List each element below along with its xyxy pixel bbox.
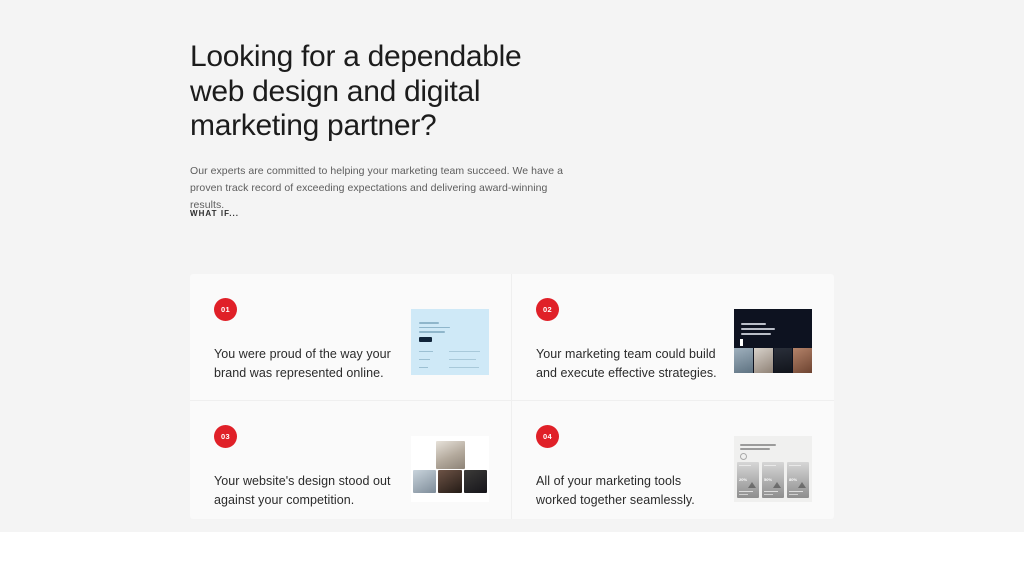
mock-text-line (419, 322, 439, 324)
mock-text-line (419, 327, 450, 329)
benefit-card-01[interactable]: 01 You were proud of the way your brand … (190, 274, 512, 401)
mock-text-line (739, 491, 753, 492)
mock-photo (774, 348, 793, 373)
mock-stat-value: 80% (789, 477, 797, 482)
mock-row-value (449, 367, 479, 368)
benefit-card-03-content: 03 Your website's design stood out again… (214, 423, 399, 509)
benefit-card-02-content: 02 Your marketing team could build and e… (536, 296, 721, 382)
mock-mountain-icon (773, 482, 781, 488)
benefit-text-04: All of your marketing tools worked toget… (536, 472, 721, 509)
thumbnail-light-blue-landing-page (411, 309, 489, 375)
mock-stat-card: 80% (787, 462, 809, 498)
mock-photo-hero (436, 441, 465, 469)
benefit-card-04-content: 04 All of your marketing tools worked to… (536, 423, 721, 509)
mock-row-label (419, 351, 433, 352)
mock-photo (438, 470, 461, 493)
benefits-grid: 01 You were proud of the way your brand … (190, 274, 834, 519)
mock-stat-card: 50% (762, 462, 784, 498)
mock-text-line (419, 331, 445, 333)
mock-photo (793, 348, 812, 373)
benefit-badge-01: 01 (214, 298, 237, 321)
mock-cursor (740, 339, 743, 346)
benefit-badge-02: 02 (536, 298, 559, 321)
mock-text-line (741, 323, 766, 325)
mock-row-label (419, 367, 428, 368)
benefit-text-03: Your website's design stood out against … (214, 472, 399, 509)
mock-stat-value: 20% (739, 477, 747, 482)
mock-card-row: 20% 50% 80% (737, 462, 809, 498)
page-title: Looking for a dependable web design and … (190, 40, 610, 144)
mock-text-line (739, 494, 748, 495)
mock-photo (413, 470, 436, 493)
mock-photo-strip (734, 348, 812, 373)
benefit-badge-04: 04 (536, 425, 559, 448)
below-fold-whitespace (0, 532, 1024, 576)
mock-row-label (419, 359, 430, 360)
benefit-card-01-content: 01 You were proud of the way your brand … (214, 296, 399, 382)
mock-text-line (740, 444, 776, 446)
mock-text-line (739, 465, 751, 466)
mock-stat-value: 50% (764, 477, 772, 482)
benefit-card-04[interactable]: 04 All of your marketing tools worked to… (512, 401, 834, 519)
mock-mountain-icon (798, 482, 806, 488)
mock-text-line (741, 333, 771, 335)
mock-stat-card: 20% (737, 462, 759, 498)
mock-text-line (741, 328, 775, 330)
benefit-card-03[interactable]: 03 Your website's design stood out again… (190, 401, 512, 519)
mock-text-line (764, 491, 778, 492)
mock-photo (734, 348, 753, 373)
eyebrow-label: WHAT IF... (190, 209, 239, 218)
mock-photo (754, 348, 773, 373)
mock-circle-icon (740, 453, 747, 460)
mock-text-line (789, 491, 803, 492)
mock-text-line (740, 448, 770, 450)
page-section: Looking for a dependable web design and … (0, 0, 1024, 532)
benefit-card-02[interactable]: 02 Your marketing team could build and e… (512, 274, 834, 401)
mock-text-line (764, 465, 776, 466)
mock-button (419, 337, 432, 342)
mock-text-line (789, 494, 798, 495)
mock-row-value (449, 351, 480, 352)
benefit-badge-03: 03 (214, 425, 237, 448)
thumbnail-dark-hero-photo-strip (734, 309, 812, 373)
benefit-text-02: Your marketing team could build and exec… (536, 345, 721, 382)
mock-photo-row (413, 470, 487, 493)
section-subcopy: Our experts are committed to helping you… (190, 163, 568, 214)
intro-block: Looking for a dependable web design and … (190, 40, 610, 144)
mock-photo (464, 470, 487, 493)
mock-mountain-icon (748, 482, 756, 488)
mock-text-line (764, 494, 773, 495)
mock-row-value (449, 359, 476, 360)
benefit-text-01: You were proud of the way your brand was… (214, 345, 399, 382)
thumbnail-white-photo-grid (411, 436, 489, 502)
mock-text-line (789, 465, 801, 466)
thumbnail-grey-dashboard-cards: 20% 50% 80% (734, 436, 812, 502)
